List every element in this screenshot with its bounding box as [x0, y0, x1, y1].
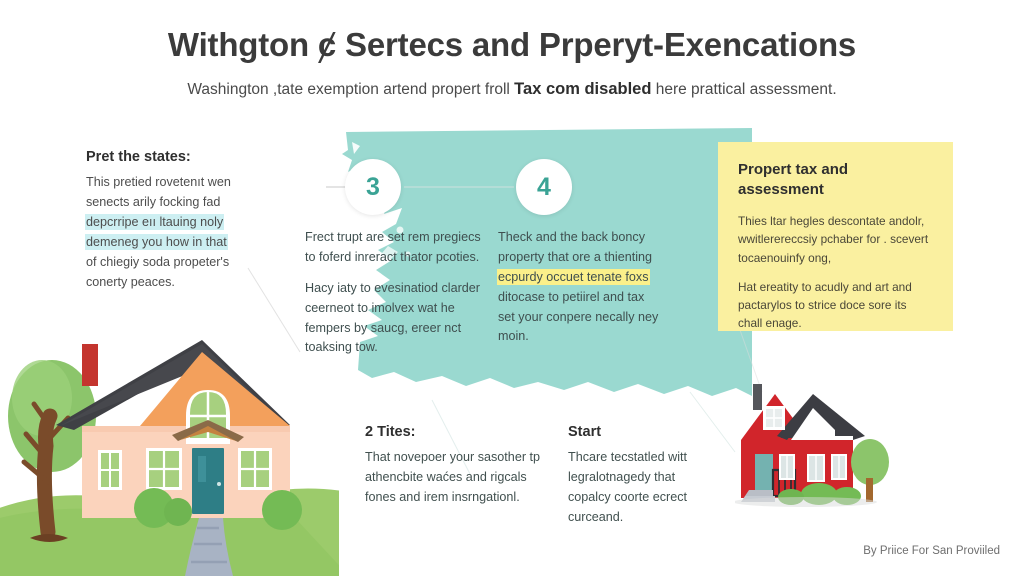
bottom-start-text-block: Start Thcare tecstatled witt legralotnag…: [568, 423, 720, 528]
house-illustration-right: [735, 378, 935, 528]
step-four-line-2: property that ore a thienting: [498, 250, 652, 264]
step-four-line-1: Theck and the back boncy: [498, 230, 645, 244]
left-line-3-highlighted: depcrripe eıı ltauing noly: [86, 215, 223, 229]
subtitle-part-after: here prattical assessment.: [651, 81, 836, 98]
callout-heading: Propert tax and assessment: [738, 160, 933, 199]
left-line-6: conerty peaces.: [86, 275, 175, 289]
bottom-two-text-block: 2 Tites: That novepoer your sasother tp …: [365, 423, 545, 508]
bottom-two-heading: 2 Tites:: [365, 423, 545, 441]
step-four-line-3-highlighted: ecpurdy occuet tenate foxs: [498, 270, 649, 284]
step-badge-4-number: 4: [537, 173, 551, 202]
left-line-1: This pretied rovetenıt wen: [86, 175, 231, 189]
callout-paragraph-2: Hat ereatity to acudly and art and pacta…: [738, 278, 933, 333]
left-block-body: This pretied rovetenıt wen senects arily…: [86, 173, 272, 292]
step-four-body: Theck and the back boncy property that o…: [498, 228, 694, 347]
page-subtitle: Washington ,tate exemption artend proper…: [0, 80, 1024, 99]
house-illustration-left: [0, 300, 339, 576]
connector-line-middle: [404, 186, 514, 188]
step-badge-4[interactable]: 4: [516, 159, 572, 215]
left-block-heading: Pret the states:: [86, 148, 272, 166]
footer-credit: By Priice For San Proviiled: [863, 545, 1000, 557]
callout-paragraph-1: Thies ltar hegles descontate andolr, wwi…: [738, 212, 933, 267]
step-three-paragraph-1: Frect trupt are set rem pregiecs to fofe…: [305, 228, 483, 268]
infographic-canvas: Withgton ȼ Sertecs and Prperyt-Exencatio…: [0, 0, 1024, 576]
page-title: Withgton ȼ Sertecs and Prperyt-Exencatio…: [0, 26, 1024, 64]
left-line-2: senects arily focking fad: [86, 195, 220, 209]
bottom-two-body: That novepoer your sasother tp athencbit…: [365, 448, 545, 508]
subtitle-part-before: Washington ,tate exemption artend proper…: [187, 81, 514, 98]
step-badge-3-number: 3: [366, 173, 380, 202]
left-line-4-highlighted: demeneg you how in that: [86, 235, 227, 249]
step-four-line-4: ditocase to petiirel and tax: [498, 290, 644, 304]
bottom-start-heading: Start: [568, 423, 720, 441]
bottom-start-body: Thcare tecstatled witt legralotnagedy th…: [568, 448, 720, 528]
step-four-text-block: Theck and the back boncy property that o…: [498, 228, 694, 347]
property-tax-callout-card: Propert tax and assessment Thies ltar he…: [718, 142, 953, 331]
subtitle-emphasis: Tax com disabled: [514, 80, 651, 98]
step-badge-3[interactable]: 3: [345, 159, 401, 215]
left-text-block: Pret the states: This pretied rovetenıt …: [86, 148, 272, 292]
step-four-line-5: set your conpere necally ney: [498, 310, 658, 324]
step-four-line-6: moin.: [498, 329, 529, 343]
left-line-5: of chiegiy soda propeter's: [86, 255, 229, 269]
